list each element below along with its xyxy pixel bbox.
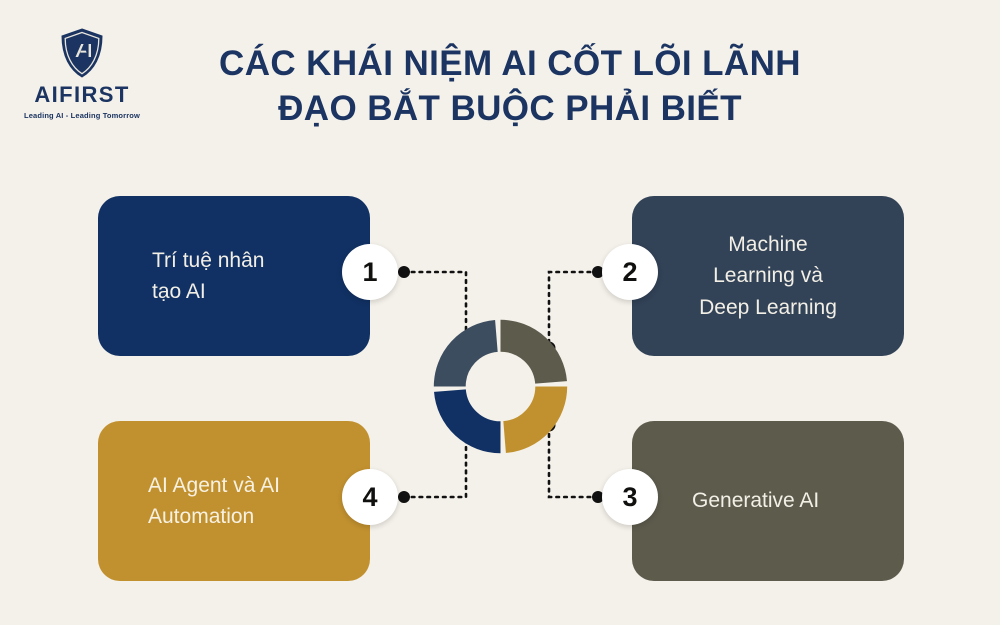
concept-card-2-line-3: Deep Learning: [632, 292, 904, 323]
step-badge-2[interactable]: 2: [602, 244, 658, 300]
concept-card-1-label: Trí tuệ nhân tạo AI: [152, 245, 370, 307]
page-title: CÁC KHÁI NIỆM AI CỐT LÕI LÃNH ĐẠO BẮT BU…: [180, 42, 840, 132]
concept-card-2-line-2: Learning và: [632, 260, 904, 291]
concept-card-4[interactable]: AI Agent và AI Automation: [98, 421, 370, 581]
concept-card-3[interactable]: Generative AI: [632, 421, 904, 581]
brand-wordmark: AIFIRST: [18, 82, 146, 108]
step-badge-4[interactable]: 4: [342, 469, 398, 525]
step-badge-3[interactable]: 3: [602, 469, 658, 525]
page-title-line-1: CÁC KHÁI NIỆM AI CỐT LÕI LÃNH: [180, 42, 840, 87]
page-title-line-2: ĐẠO BẮT BUỘC PHẢI BIẾT: [180, 87, 840, 132]
concept-card-2-label: Machine Learning và Deep Learning: [632, 229, 904, 322]
donut-chart: [428, 314, 573, 459]
connector-dot-4-badge: [398, 491, 410, 503]
concept-card-4-label: AI Agent và AI Automation: [148, 470, 370, 532]
brand-logo: AIFIRST Leading AI - Leading Tomorrow: [18, 28, 146, 120]
concept-card-1-line-2: tạo AI: [152, 276, 370, 307]
concept-card-1-line-1: Trí tuệ nhân: [152, 245, 370, 276]
concept-card-2-line-1: Machine: [632, 229, 904, 260]
concept-card-1[interactable]: Trí tuệ nhân tạo AI: [98, 196, 370, 356]
concept-card-3-label: Generative AI: [692, 485, 904, 516]
concept-card-3-line-1: Generative AI: [692, 485, 904, 516]
concept-card-4-line-2: Automation: [148, 501, 370, 532]
concept-card-4-line-1: AI Agent và AI: [148, 470, 370, 501]
brand-tagline: Leading AI - Leading Tomorrow: [18, 111, 146, 120]
step-badge-1[interactable]: 1: [342, 244, 398, 300]
shield-logo-icon: [60, 28, 104, 78]
concept-card-2[interactable]: Machine Learning và Deep Learning: [632, 196, 904, 356]
infographic-canvas: AIFIRST Leading AI - Leading Tomorrow CÁ…: [0, 0, 1000, 625]
connector-dot-1-badge: [398, 266, 410, 278]
